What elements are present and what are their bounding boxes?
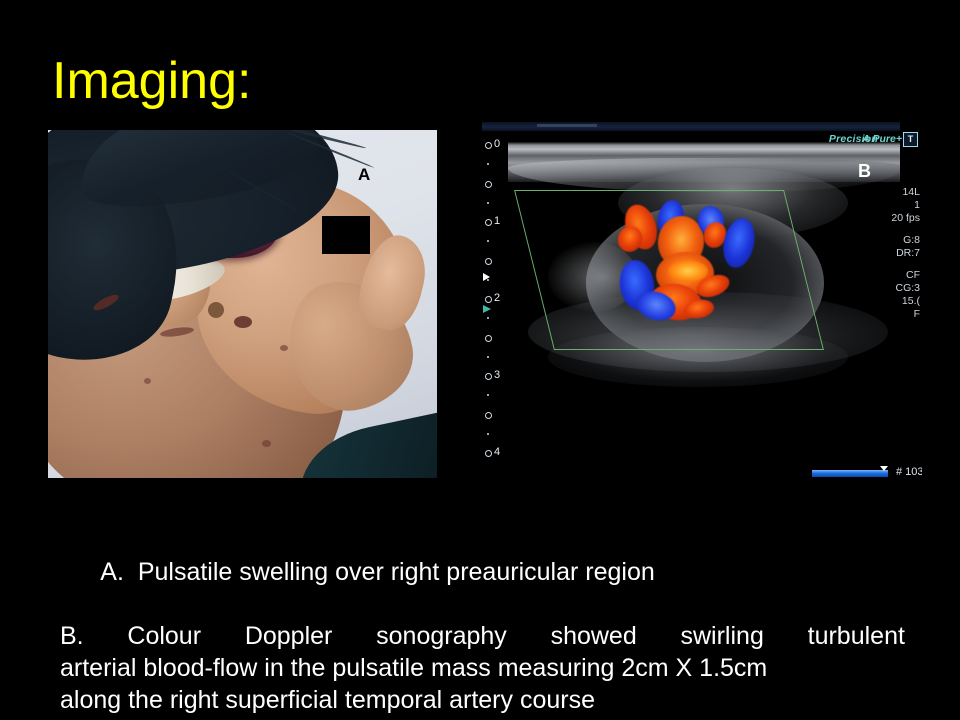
depth-ruler: 0 1 2 3 4 [482,140,508,440]
depth-tick-minor [487,240,489,242]
param-spacer [862,225,920,234]
depth-tick-ring [485,219,492,226]
caption-word-b: sonography [376,620,507,652]
param-freq: 1 [862,199,920,212]
ultrasound-parameter-list: 14L 1 20 fps G:8 DR:7 CF CG:3 15.( F [862,186,920,321]
depth-tick-label: 0 [494,139,500,150]
clinical-photo-panel-a [48,130,437,478]
caption-word-b: showed [551,620,637,652]
depth-tick-minor [487,394,489,396]
transducer-badge-icon: T [903,132,918,147]
panel-label-b: B [858,161,871,182]
depth-tick-minor [487,433,489,435]
caption-word-b: Doppler [245,620,333,652]
doppler-flow-core [668,260,708,282]
depth-tick-ring [485,373,492,380]
photo-blood-spot [144,378,151,384]
ultrasound-panel-b: Precision A Pure+ T 0 1 2 3 [482,122,922,482]
param-fps: 20 fps [862,212,920,225]
depth-tick-ring [485,450,492,457]
depth-tick-label: 1 [494,216,500,227]
param-cf: CF [862,269,920,282]
photo-blood-spot [280,345,288,351]
caption-text-a: Pulsatile swelling over right preauricul… [138,558,655,586]
photo-earring [208,302,224,318]
caption-line-b3: along the right superficial temporal art… [60,684,910,716]
privacy-redaction-box [322,216,370,254]
depth-tick-ring [485,296,492,303]
depth-tick-minor [487,163,489,165]
caption-line-b2: arterial blood-flow in the pulsatile mas… [60,652,900,684]
depth-tick-ring [485,335,492,342]
caption-line-b1: B. Colour Doppler sonography showed swir… [60,620,905,652]
param-prf: 15.( [862,295,920,308]
titlebar-notch [537,124,597,127]
caption-marker-b: B. [60,620,84,652]
param-probe: 14L [862,186,920,199]
caption-block: A. Pulsatile swelling over right preauri… [60,524,910,716]
ultrasound-image-area [508,142,900,387]
param-filter: F [862,308,920,321]
caption-line-a: A. Pulsatile swelling over right preauri… [60,524,910,620]
caption-word-b: swirling [681,620,764,652]
depth-tick-label: 2 [494,293,500,304]
caption-word-b: Colour [127,620,201,652]
page-title: Imaging: [52,52,251,110]
depth-tick-ring [485,412,492,419]
photo-blood-crust [234,316,252,328]
focus-marker-icon [483,273,490,281]
depth-tick-minor [487,356,489,358]
colour-flow-marker-icon [483,305,491,313]
param-spacer [862,260,920,269]
depth-tick-label: 3 [494,370,500,381]
depth-tick-ring [485,142,492,149]
depth-tick-ring [485,258,492,265]
param-dynrange: DR:7 [862,247,920,260]
cine-position-marker-icon[interactable] [880,466,888,471]
cine-frame-count: # 103 [896,466,922,478]
panel-label-a: A [358,165,370,185]
depth-tick-label: 4 [494,447,500,458]
cine-progress-bar[interactable] [812,470,888,477]
param-gain: G:8 [862,234,920,247]
caption-marker-a: A. [100,558,124,586]
depth-tick-minor [487,202,489,204]
caption-word-b: turbulent [808,620,905,652]
ultrasound-titlebar [482,122,900,131]
param-cgain: CG:3 [862,282,920,295]
depth-tick-ring [485,181,492,188]
slide-canvas: Imaging: A Precision [0,0,960,720]
depth-tick-minor [487,317,489,319]
cine-loop-control[interactable]: # 103 [812,466,922,478]
photo-blood-spot [262,440,271,447]
